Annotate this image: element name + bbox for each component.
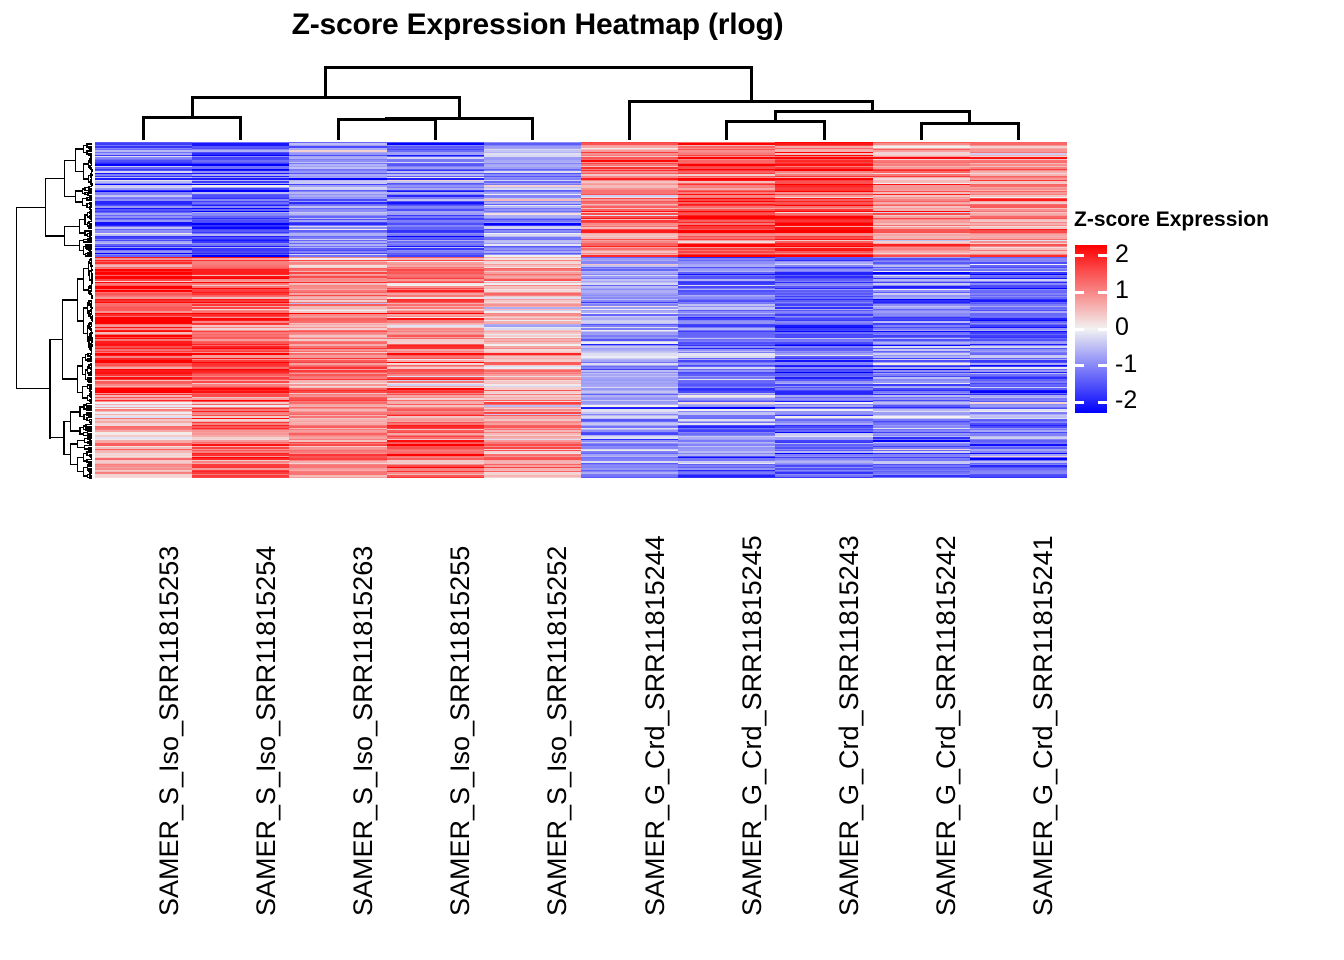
colorbar-tick <box>1098 291 1107 294</box>
legend-title: Z-score Expression <box>1074 208 1269 232</box>
colorbar-tick <box>1075 328 1084 331</box>
colorbar-tick <box>1098 364 1107 367</box>
colorbar-tick <box>1075 364 1084 367</box>
colorbar-tick <box>1098 254 1107 257</box>
colorbar-tick-label: 0 <box>1115 315 1129 340</box>
colorbar-tick-label: -2 <box>1115 388 1137 413</box>
heatmap-figure: Z-score Expression Heatmap (rlog) SAMER_… <box>0 0 1344 960</box>
colorbar-tick <box>1098 401 1107 404</box>
colorbar-tick <box>1098 328 1107 331</box>
colorbar-tick-label: 1 <box>1115 278 1129 303</box>
colorbar-tick-label: 2 <box>1115 242 1129 267</box>
colorbar-tick-label: -1 <box>1115 352 1137 377</box>
colorbar-tick <box>1075 291 1084 294</box>
colorbar-tick <box>1075 401 1084 404</box>
colorbar-tick <box>1075 254 1084 257</box>
legend: Z-score Expression 210-1-2 <box>0 0 1344 960</box>
